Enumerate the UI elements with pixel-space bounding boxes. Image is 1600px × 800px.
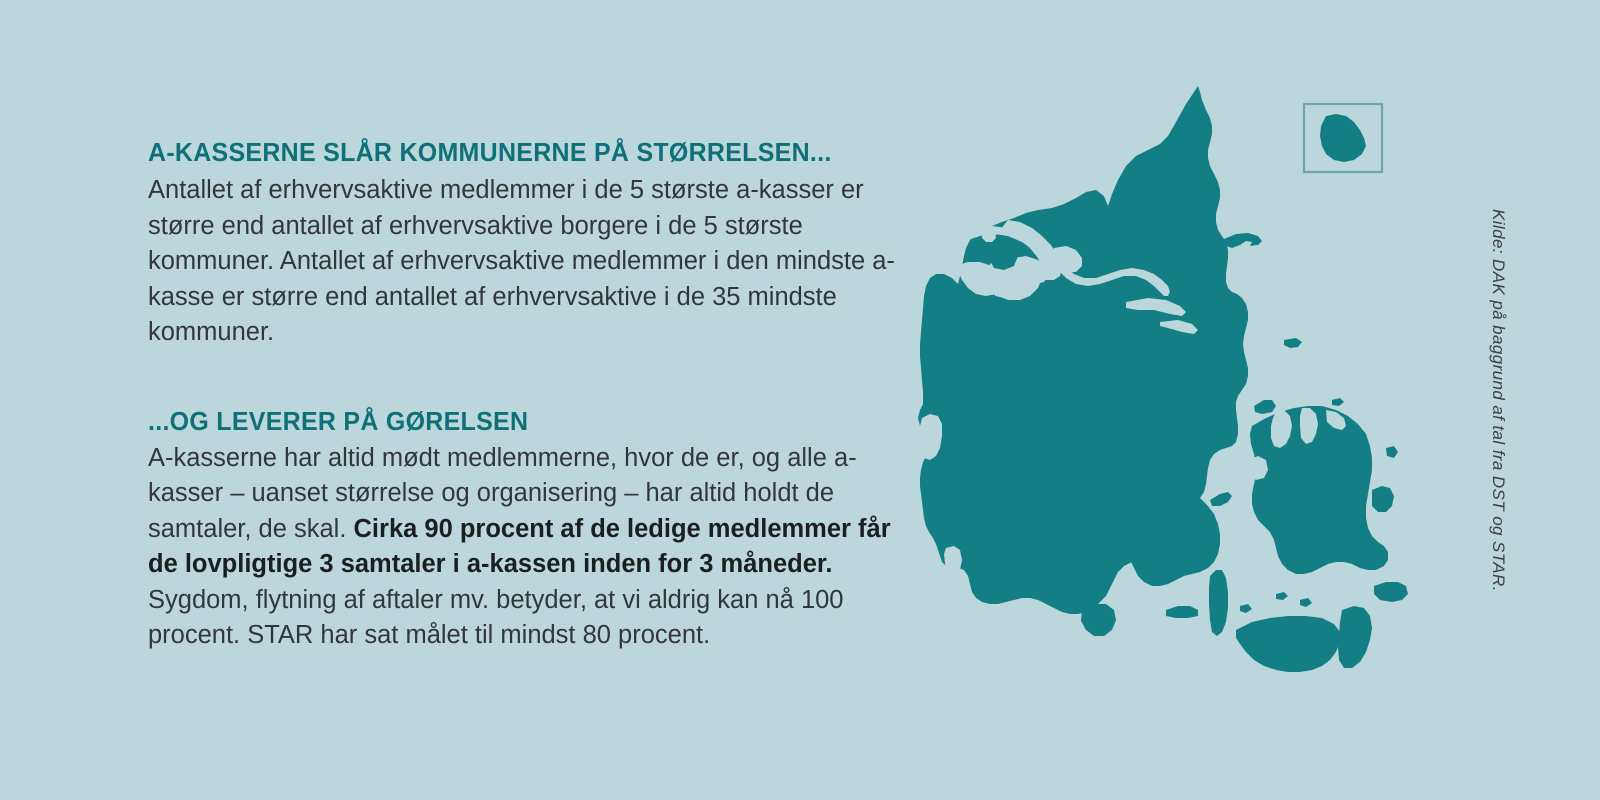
text-block-size-comparison: A-KASSERNE SLÅR KOMMUNERNE PÅ STØRRELSEN… [148,138,908,351]
als-island [1081,604,1116,636]
paragraph-delivery: A-kasserne har altid mødt medlemmerne, h… [148,441,908,654]
langeland-island [1209,570,1228,636]
laesoe-island [1224,233,1262,248]
mors-island [989,242,1018,270]
funen-island [1120,490,1220,586]
funen-northeast-spit [1210,492,1232,506]
moen-island [1374,582,1408,602]
text-column: A-KASSERNE SLÅR KOMMUNERNE PÅ STØRRELSEN… [148,138,908,654]
source-note: Kilde: DAK på baggrund af tal fra DST og… [1478,0,1518,800]
paragraph-size-comparison: Antallet af erhvervsaktive medlemmer i d… [148,173,908,351]
bornholm-island [1320,114,1366,162]
zealand-island [1250,406,1388,574]
ven-island [1386,446,1398,458]
heading-a-kasserne-slaar-kommunerne: A-KASSERNE SLÅR KOMMUNERNE PÅ STØRRELSEN… [148,138,878,167]
denmark-map-svg [880,70,1480,710]
southern-islet-3 [1240,604,1252,613]
denmark-map-graphic [880,70,1480,710]
paragraph-delivery-part2: Sygdom, flytning af aftaler mv. betyder,… [148,586,844,650]
source-note-text: Kilde: DAK på baggrund af tal fra DST og… [1488,209,1508,592]
infographic-canvas: A-KASSERNE SLÅR KOMMUNERNE PÅ STØRRELSEN… [0,0,1600,800]
odsherred-tip [1254,400,1276,414]
aeroe-island [1166,606,1198,618]
anholt-island [1284,338,1302,348]
falster-island [1338,606,1372,668]
stevns-peninsula [1372,486,1394,512]
southern-islet-1 [1276,592,1288,600]
southwest-lagoon-water [944,546,962,574]
small-islet-kattegat [1332,398,1344,406]
southern-islet-2 [1300,598,1312,607]
lolland-island [1236,616,1340,672]
text-block-delivery: ...OG LEVERER PÅ GØRELSEN A-kasserne har… [148,407,908,654]
heading-og-leverer-paa-goerelsen: ...OG LEVERER PÅ GØRELSEN [148,407,878,436]
